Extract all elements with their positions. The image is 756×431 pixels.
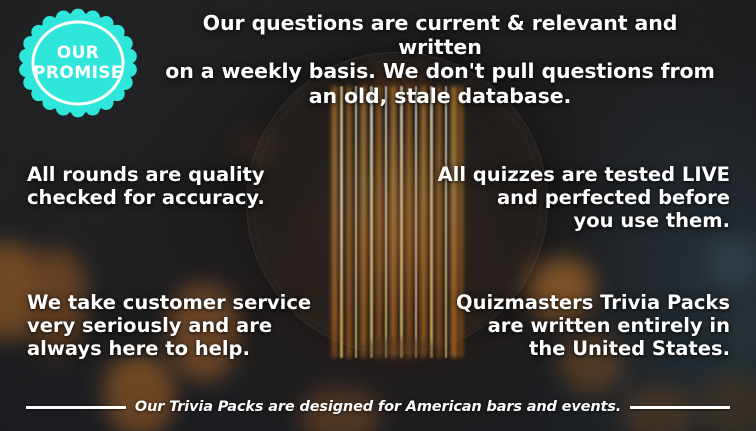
our-promise-banner: OUR PROMISE Our questions are current & …: [0, 0, 756, 431]
promise-point-tested-live: All quizzes are tested LIVE and perfecte…: [400, 163, 730, 232]
our-promise-badge: OUR PROMISE: [15, 7, 141, 119]
badge-text: OUR PROMISE: [15, 7, 141, 119]
headline-text: Our questions are current & relevant and…: [160, 11, 720, 108]
promise-point-quality-checked: All rounds are quality checked for accur…: [27, 163, 357, 209]
footer-rule-right: [630, 406, 730, 409]
promise-point-written-in-usa: Quizmasters Trivia Packs are written ent…: [400, 291, 730, 360]
bokeh-blob: [707, 236, 756, 288]
footer-rule-left: [26, 406, 126, 409]
promise-point-customer-service: We take customer service very seriously …: [27, 291, 357, 360]
footer-strip: Our Trivia Packs are designed for Americ…: [26, 396, 730, 418]
badge-line-1: OUR: [57, 44, 100, 62]
badge-line-2: PROMISE: [33, 64, 123, 82]
footer-text: Our Trivia Packs are designed for Americ…: [135, 399, 621, 415]
